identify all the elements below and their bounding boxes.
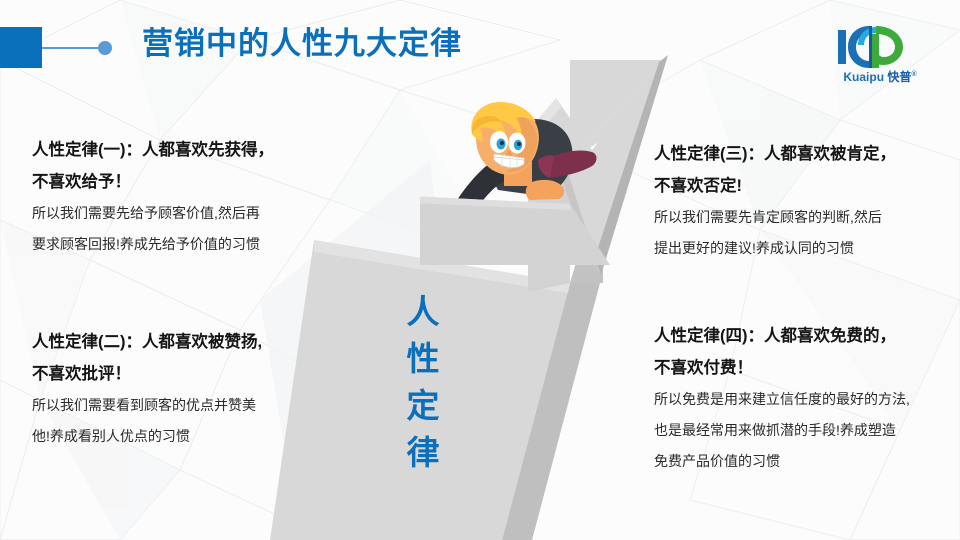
law-block-two: 人性定律(二)：人都喜欢被赞扬, 不喜欢批评！ 所以我们需要看到顾客的优点并赞美… [32,326,262,452]
arrow-label-char-1: 人 [402,288,444,335]
law-four-body-line1: 所以免费是用来建立信任度的最好的方法, [654,384,910,415]
slide-canvas: 营销中的人性九大定律 Kuaipu 快普® [0,0,960,540]
kuaipu-logo-icon [836,24,914,68]
law-one-heading-line1: 人性定律(一)：人都喜欢先获得， [32,134,274,166]
logo-wordmark: Kuaipu 快普® [824,68,936,84]
arrow-label-char-3: 定 [402,382,444,429]
businessman-illustration [420,100,610,265]
law-two-heading-line2: 不喜欢批评！ [32,358,262,390]
header-connector-line [42,47,100,49]
logo-chinese-text: 快普 [887,70,911,84]
law-four-body-line2: 也是最经常用来做抓潜的手段!养成塑造 [654,415,910,446]
arrow-vertical-label: 人 性 定 律 [402,288,444,476]
law-two-body-line2: 他!养成看别人优点的习惯 [32,421,262,452]
law-one-heading-line2: 不喜欢给予！ [32,166,274,198]
law-one-body-line1: 所以我们需要先给予顾客价值,然后再 [32,198,274,229]
header-connector-dot [98,41,112,55]
logo-latin-text: Kuaipu [843,70,884,84]
law-four-heading-line1: 人性定律(四)：人都喜欢免费的， [654,320,910,352]
arrow-label-char-4: 律 [402,429,444,476]
brand-logo: Kuaipu 快普® [824,24,936,86]
law-three-body-line2: 提出更好的建议!养成认同的习惯 [654,233,896,264]
law-four-body-line3: 免费产品价值的习惯 [654,446,910,477]
registered-trademark-icon: ® [911,71,916,78]
law-block-three: 人性定律(三)：人都喜欢被肯定， 不喜欢否定! 所以我们需要先肯定顾客的判断,然… [654,138,896,264]
law-two-body-line1: 所以我们需要看到顾客的优点并赞美 [32,390,262,421]
law-three-heading-line1: 人性定律(三)：人都喜欢被肯定， [654,138,896,170]
law-four-heading-line2: 不喜欢付费！ [654,352,910,384]
law-three-heading-line2: 不喜欢否定! [654,170,896,202]
law-block-one: 人性定律(一)：人都喜欢先获得， 不喜欢给予！ 所以我们需要先给予顾客价值,然后… [32,134,274,260]
header-accent-square [0,27,42,68]
arrow-label-char-2: 性 [402,335,444,382]
law-three-body-line1: 所以我们需要先肯定顾客的判断,然后 [654,202,896,233]
law-two-heading-line1: 人性定律(二)：人都喜欢被赞扬, [32,326,262,358]
law-block-four: 人性定律(四)：人都喜欢免费的， 不喜欢付费！ 所以免费是用来建立信任度的最好的… [654,320,910,477]
law-one-body-line2: 要求顾客回报!养成先给予价值的习惯 [32,229,274,260]
